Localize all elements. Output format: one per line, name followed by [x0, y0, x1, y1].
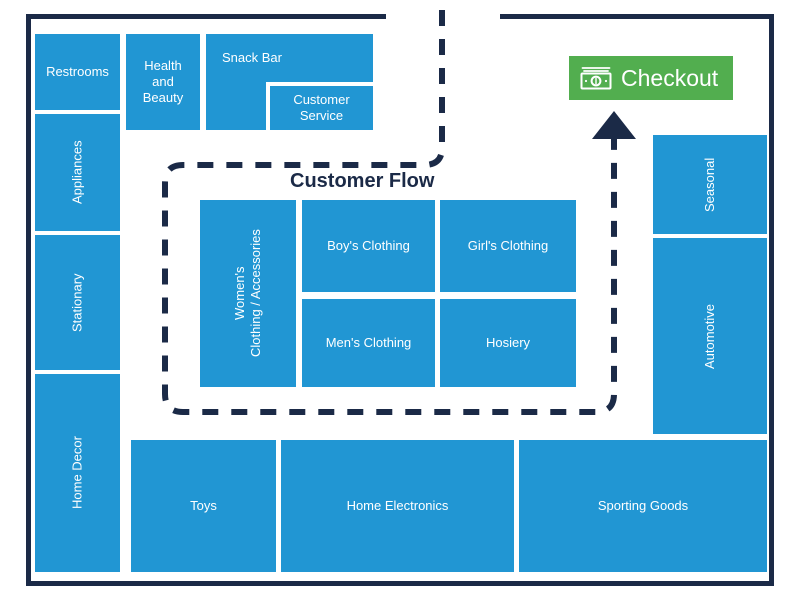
department-label: Girl's Clothing [468, 238, 549, 254]
flow-arrowhead [592, 111, 636, 139]
department-label: Snack Bar [222, 50, 282, 66]
money-banknote-icon [579, 65, 613, 91]
department-girls-clothing[interactable]: Girl's Clothing [440, 200, 576, 292]
department-label: Home Decor [69, 437, 85, 510]
department-sporting-goods[interactable]: Sporting Goods [519, 440, 767, 572]
department-toys[interactable]: Toys [131, 440, 276, 572]
department-seasonal[interactable]: Seasonal [653, 135, 767, 234]
department-label: Toys [190, 498, 217, 514]
department-label: Appliances [69, 141, 85, 205]
department-restrooms[interactable]: Restrooms [35, 34, 120, 110]
checkout-label: Checkout [621, 67, 718, 90]
department-label: Home Electronics [347, 498, 449, 514]
department-home-electronics[interactable]: Home Electronics [281, 440, 514, 572]
department-label: Health and Beauty [143, 58, 183, 107]
department-hosiery[interactable]: Hosiery [440, 299, 576, 387]
department-label: Women's Clothing / Accessories [232, 230, 265, 358]
store-floor-plan: Restrooms Appliances Stationary Home Dec… [0, 0, 800, 600]
department-health-and-beauty[interactable]: Health and Beauty [126, 34, 200, 130]
department-customer-service[interactable]: Customer Service [270, 86, 373, 130]
department-label: Men's Clothing [326, 335, 412, 351]
department-boys-clothing[interactable]: Boy's Clothing [302, 200, 435, 292]
department-mens-clothing[interactable]: Men's Clothing [302, 299, 435, 387]
checkout-banner[interactable]: Checkout [569, 56, 733, 100]
customer-flow-title: Customer Flow [290, 170, 434, 193]
department-label: Seasonal [702, 157, 718, 211]
department-automotive[interactable]: Automotive [653, 238, 767, 434]
wall-bottom [26, 581, 774, 586]
department-label: Boy's Clothing [327, 238, 410, 254]
department-label: Stationary [69, 273, 85, 332]
department-snack-bar[interactable]: Snack Bar [206, 34, 373, 82]
department-home-decor[interactable]: Home Decor [35, 374, 120, 572]
department-label: Sporting Goods [598, 498, 688, 514]
department-stationary[interactable]: Stationary [35, 235, 120, 370]
department-appliances[interactable]: Appliances [35, 114, 120, 231]
department-snack-bar-leg[interactable] [206, 82, 266, 130]
wall-left [26, 14, 31, 586]
department-label: Customer Service [293, 92, 349, 125]
department-womens-clothing-accessories[interactable]: Women's Clothing / Accessories [200, 200, 296, 387]
department-label: Automotive [702, 303, 718, 368]
department-label: Restrooms [46, 64, 109, 80]
wall-top-right [500, 14, 774, 19]
department-label: Hosiery [486, 335, 530, 351]
wall-top-left [26, 14, 386, 19]
wall-right [769, 14, 774, 586]
